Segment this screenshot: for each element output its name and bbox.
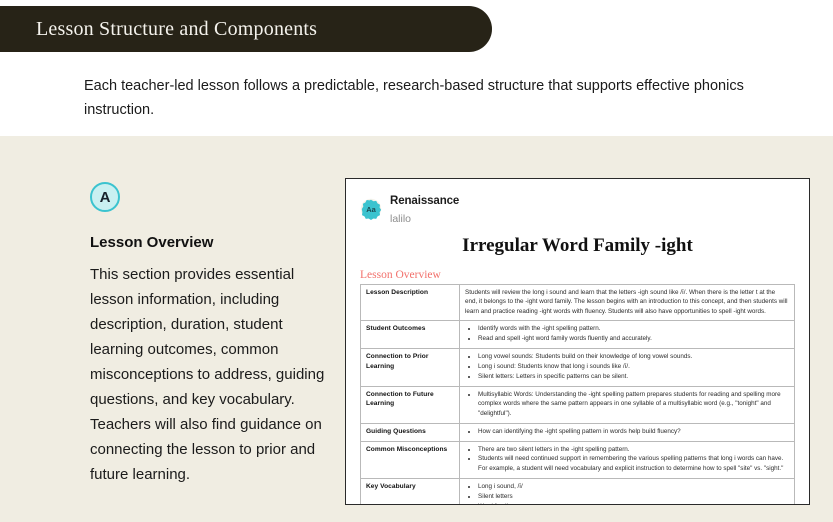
table-row-label: Student Outcomes xyxy=(361,321,460,349)
table-cell-list: How can identifying the -ight spelling p… xyxy=(465,427,789,436)
table-row-label: Lesson Description xyxy=(361,284,460,320)
table-row: Common MisconceptionsThere are two silen… xyxy=(361,441,795,478)
list-item: Silent letters xyxy=(478,492,789,501)
table-row-value: There are two silent letters in the -igh… xyxy=(460,441,795,478)
table-row-label: Key Vocabulary xyxy=(361,478,460,505)
table-row-value: Identify words with the -ight spelling p… xyxy=(460,321,795,349)
table-cell-text: Students will review the long i sound an… xyxy=(465,288,789,316)
table-body: Lesson DescriptionStudents will review t… xyxy=(361,284,795,505)
table-row-label: Connection to Future Learning xyxy=(361,386,460,423)
table-row: Guiding QuestionsHow can identifying the… xyxy=(361,423,795,441)
list-item: Long vowel sounds: Students build on the… xyxy=(478,352,789,361)
table-row-value: Long i sound, /ī/Silent lettersWord fami… xyxy=(460,478,795,505)
renaissance-logo-icon: Aa xyxy=(360,198,382,220)
list-item: Multisyllabic Words: Understanding the -… xyxy=(478,390,789,418)
list-item: Silent letters: Letters in specific patt… xyxy=(478,372,789,381)
brand-name: Renaissance xyxy=(390,195,459,207)
lesson-overview-table: Lesson DescriptionStudents will review t… xyxy=(360,284,795,505)
svg-text:Aa: Aa xyxy=(366,205,376,214)
table-row: Lesson DescriptionStudents will review t… xyxy=(361,284,795,320)
list-item: Long i sound, /ī/ xyxy=(478,482,789,491)
table-row: Connection to Future LearningMultisyllab… xyxy=(361,386,795,423)
page-title: Lesson Structure and Components xyxy=(0,18,317,41)
table-cell-list: Identify words with the -ight spelling p… xyxy=(465,324,789,343)
document-preview-card[interactable]: Aa Renaissance lalilo Irregular Word Fam… xyxy=(345,178,810,505)
list-item: There are two silent letters in the -igh… xyxy=(478,445,789,454)
table-row: Key VocabularyLong i sound, /ī/Silent le… xyxy=(361,478,795,505)
table-row-value: Long vowel sounds: Students build on the… xyxy=(460,348,795,386)
lesson-overview-column: A Lesson Overview This section provides … xyxy=(90,182,332,487)
table-cell-list: Multisyllabic Words: Understanding the -… xyxy=(465,390,789,418)
table-row-value: Multisyllabic Words: Understanding the -… xyxy=(460,386,795,423)
document-logo-row: Aa Renaissance lalilo xyxy=(360,191,795,228)
list-item: Long i sound: Students know that long i … xyxy=(478,362,789,371)
intro-paragraph: Each teacher-led lesson follows a predic… xyxy=(84,74,804,122)
logo-text: Renaissance lalilo xyxy=(390,191,459,228)
table-cell-list: Long i sound, /ī/Silent lettersWord fami… xyxy=(465,482,789,505)
page-header-banner: Lesson Structure and Components xyxy=(0,6,492,52)
step-badge-a: A xyxy=(90,182,120,212)
table-cell-list: There are two silent letters in the -igh… xyxy=(465,445,789,474)
table-cell-list: Long vowel sounds: Students build on the… xyxy=(465,352,789,381)
document-section-label: Lesson Overview xyxy=(360,269,795,281)
table-row-value: How can identifying the -ight spelling p… xyxy=(460,423,795,441)
table-row-label: Common Misconceptions xyxy=(361,441,460,478)
table-row: Connection to Prior LearningLong vowel s… xyxy=(361,348,795,386)
list-item: Word family xyxy=(478,502,789,505)
list-item: How can identifying the -ight spelling p… xyxy=(478,427,789,436)
lesson-overview-heading: Lesson Overview xyxy=(90,234,332,251)
table-row-label: Guiding Questions xyxy=(361,423,460,441)
table-row-label: Connection to Prior Learning xyxy=(361,348,460,386)
table-row-value: Students will review the long i sound an… xyxy=(460,284,795,320)
document-title: Irregular Word Family -ight xyxy=(360,235,795,257)
product-name: lalilo xyxy=(390,213,411,225)
table-row: Student OutcomesIdentify words with the … xyxy=(361,321,795,349)
list-item: Read and spell -ight word family words f… xyxy=(478,334,789,343)
list-item: Identify words with the -ight spelling p… xyxy=(478,324,789,333)
lesson-overview-body: This section provides essential lesson i… xyxy=(90,262,332,487)
list-item: Students will need continued support in … xyxy=(478,454,789,473)
